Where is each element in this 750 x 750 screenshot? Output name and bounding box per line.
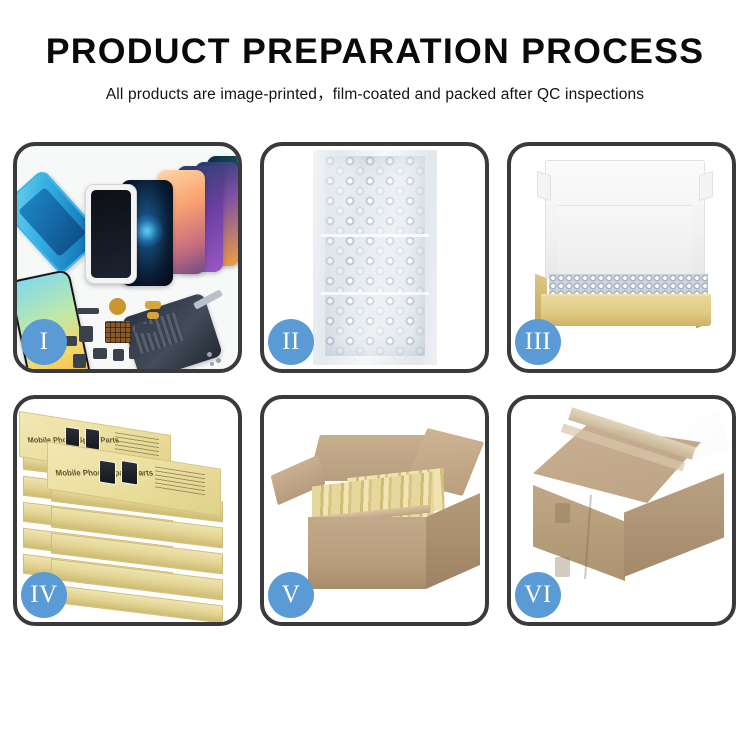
step-badge-4: IV [21, 572, 67, 618]
ribbon-cable-icon [135, 324, 155, 333]
mailer-lid-tab-left [537, 171, 551, 201]
header: PRODUCT PREPARATION PROCESS All products… [0, 0, 750, 104]
step-panel-6-sealed-carton: VI [507, 395, 736, 626]
step-badge-2: II [268, 319, 314, 365]
flex-cable-component-icon [145, 301, 161, 309]
page-subtitle: All products are image-printed，film-coat… [0, 82, 750, 104]
mailer-lid-image [545, 160, 705, 278]
flex-cable-small-icon [147, 312, 159, 319]
step-panel-3-inner-box: III [507, 142, 736, 373]
connector-component-icon [77, 308, 99, 314]
step-panel-2-bubble-wrap: II [260, 142, 489, 373]
step-panel-4-boxed-stack: Mobile Phone Spare Parts Mobile Phone Sp… [13, 395, 242, 626]
step-panel-1-products: I [13, 142, 242, 373]
screw-icon [216, 358, 221, 363]
screw-icon [210, 362, 214, 366]
box-phone-thumbnail [99, 459, 116, 485]
camera-module-icon [93, 348, 107, 359]
step-panel-5-carton-filling: V [260, 395, 489, 626]
wrap-seam-upper [321, 234, 429, 237]
step-badge-6: VI [515, 572, 561, 618]
box-phone-thumbnail [121, 460, 138, 486]
process-steps-grid: I II III [13, 142, 737, 687]
page-title: PRODUCT PREPARATION PROCESS [0, 34, 750, 71]
wrap-seam-lower [321, 292, 429, 295]
mailer-lid-tab-right [699, 171, 713, 201]
battery-connector-icon [129, 346, 139, 359]
speaker-component-icon [109, 298, 126, 315]
screw-icon [207, 352, 212, 357]
sim-tray-icon [73, 354, 86, 368]
step-badge-5: V [268, 572, 314, 618]
mailer-front-panel [541, 298, 711, 326]
logic-board-component-icon [105, 321, 131, 343]
carton-front-panel [308, 517, 426, 589]
step-badge-1: I [21, 319, 67, 365]
carton-handle-notch-upper [555, 503, 570, 523]
vibrator-motor-icon [113, 349, 124, 361]
carton-handle-notch-lower [555, 557, 570, 577]
carton-left-face [533, 485, 625, 581]
bubble-wrap-sheen [325, 156, 425, 356]
step-badge-3: III [515, 319, 561, 365]
bracket-component-icon [79, 326, 93, 342]
phone-screen-black-image [85, 184, 137, 284]
